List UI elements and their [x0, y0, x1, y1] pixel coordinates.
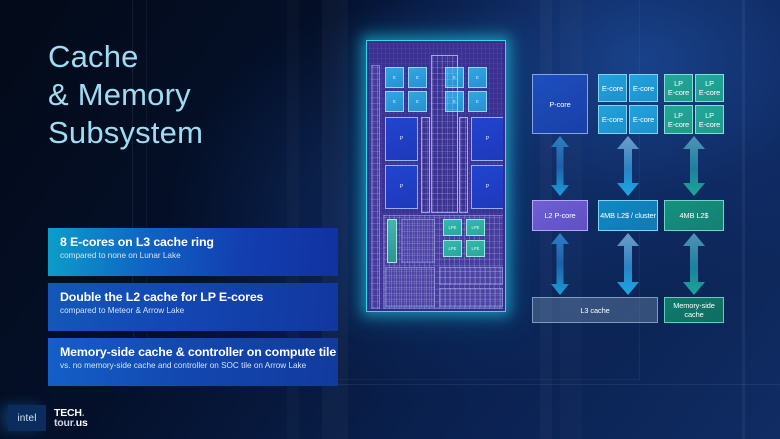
die-subblock — [439, 267, 503, 285]
block-lpecore-1[interactable]: LP E-core — [664, 74, 693, 102]
title-line-3: Subsystem — [48, 114, 328, 152]
brand-logo: intel TECH. tour.us — [8, 405, 88, 431]
block-l2-lpe[interactable]: 4MB L2$ — [664, 200, 724, 231]
block-ecore-1[interactable]: E-core — [598, 74, 627, 102]
die-ecore: E — [385, 67, 404, 88]
msc-line-1: Memory-side — [673, 301, 715, 310]
die-subblock — [439, 288, 503, 307]
block-memory-side-cache[interactable]: Memory-side cache — [664, 297, 724, 323]
lpe-line-1: LP — [674, 111, 683, 120]
lpe-line-2: E-core — [699, 120, 720, 129]
arrow-lpecore-to-l2 — [682, 136, 706, 196]
bullet-headline: 8 E-cores on L3 cache ring — [60, 235, 338, 249]
arrow-ecore-to-l2 — [616, 136, 640, 196]
arrow-l2-to-l3 — [550, 233, 570, 295]
title-line-2: & Memory — [48, 76, 328, 114]
die-lpe-core: LPE — [466, 240, 485, 257]
die-pcore: P — [471, 117, 503, 161]
block-ecore-3[interactable]: E-core — [598, 105, 627, 134]
bullet-headline: Memory-side cache & controller on comput… — [60, 345, 338, 359]
lpe-line-2: E-core — [699, 88, 720, 97]
die-ecore: E — [468, 67, 487, 88]
block-lpecore-2[interactable]: LP E-core — [695, 74, 724, 102]
arrow-l2cluster-to-l3 — [616, 233, 640, 295]
cache-hierarchy-diagram: P-core E-core E-core E-core E-core LP E-… — [528, 72, 768, 372]
bullet-card-1[interactable]: 8 E-cores on L3 cache ring compared to n… — [48, 228, 338, 276]
die-lpe-core: LPE — [443, 219, 462, 236]
lpe-line-2: E-core — [668, 88, 689, 97]
lpe-line-1: LP — [705, 79, 714, 88]
die-shot-image: E E E E E E E E P P P P L — [366, 40, 506, 312]
die-shot-inner: E E E E E E E E P P P P L — [369, 43, 503, 309]
us-text: us — [76, 417, 88, 429]
block-l3-cache[interactable]: L3 cache — [532, 297, 658, 323]
block-lpecore-3[interactable]: LP E-core — [664, 105, 693, 134]
block-pcore[interactable]: P-core — [532, 74, 588, 134]
block-ecore-4[interactable]: E-core — [629, 105, 658, 134]
block-ecore-2[interactable]: E-core — [629, 74, 658, 102]
die-memory-side-bar — [387, 219, 397, 263]
title-line-1: Cache — [48, 38, 328, 76]
block-l2-cluster[interactable]: 4MB L2$ / cluster — [598, 200, 658, 231]
die-subblock — [401, 219, 435, 263]
die-l3-ring-side — [459, 117, 468, 213]
block-l2-pcore[interactable]: L2 P-core — [532, 200, 588, 231]
bullet-card-3[interactable]: Memory-side cache & controller on comput… — [48, 338, 338, 386]
die-lpe-core: LPE — [466, 219, 485, 236]
bullet-card-2[interactable]: Double the L2 cache for LP E-cores compa… — [48, 283, 338, 331]
tech-tour-logo: TECH. tour.us — [54, 408, 88, 428]
bullet-subtext: compared to Meteor & Arrow Lake — [60, 306, 338, 315]
die-edge-strip — [371, 65, 380, 309]
bullet-headline: Double the L2 cache for LP E-cores — [60, 290, 338, 304]
lpe-line-1: LP — [674, 79, 683, 88]
tour-text: tour — [54, 417, 73, 429]
bullet-subtext: compared to none on Lunar Lake — [60, 251, 338, 260]
die-l3-ring — [431, 55, 458, 213]
die-lpe-core: LPE — [443, 240, 462, 257]
die-ecore: E — [385, 91, 404, 112]
tech-tour-line-2: tour.us — [54, 418, 88, 428]
arrow-pcore-to-l2 — [550, 136, 570, 196]
page-title: Cache & Memory Subsystem — [48, 38, 328, 152]
bullet-card-list: 8 E-cores on L3 cache ring compared to n… — [48, 228, 338, 393]
bullet-subtext: vs. no memory-side cache and controller … — [60, 361, 338, 370]
slide-canvas: Cache & Memory Subsystem 8 E-cores on L3… — [0, 0, 780, 439]
lpe-line-1: LP — [705, 111, 714, 120]
arrow-l2lpe-to-memoryside — [682, 233, 706, 295]
msc-line-2: cache — [684, 310, 703, 319]
die-l3-ring-side — [421, 117, 430, 213]
block-lpecore-4[interactable]: LP E-core — [695, 105, 724, 134]
lpe-line-2: E-core — [668, 120, 689, 129]
die-pcore: P — [385, 117, 418, 161]
die-pcore: P — [471, 165, 503, 209]
die-ecore: E — [408, 91, 427, 112]
die-ecore: E — [408, 67, 427, 88]
intel-logo: intel — [8, 405, 46, 431]
die-ecore: E — [468, 91, 487, 112]
die-pcore: P — [385, 165, 418, 209]
die-subblock — [385, 267, 435, 307]
